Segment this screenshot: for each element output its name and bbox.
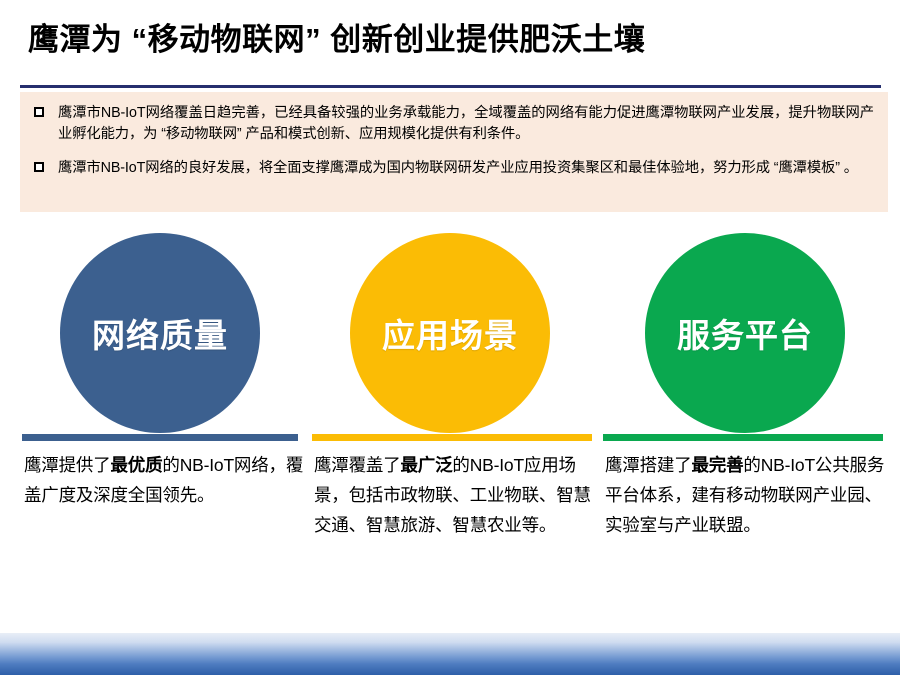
bullet-square-icon <box>34 103 58 120</box>
pillar-body-emphasis: 最优质 <box>111 455 163 475</box>
bullet-item: 鹰潭市NB-IoT网络的良好发展，将全面支撑鹰潭成为国内物联网研发产业应用投资集… <box>34 158 874 179</box>
footer-bar: CAICT 中国信通院 http://www.caict.ac.cn/ 17 <box>0 633 900 675</box>
pillar-body-prefix: 鹰潭搭建了 <box>605 455 692 475</box>
pillar-divider-blue <box>22 434 298 441</box>
pillar-body-prefix: 鹰潭覆盖了 <box>314 455 401 475</box>
pillar-divider-yellow <box>312 434 592 441</box>
pillar-body-application-scenarios: 鹰潭覆盖了最广泛的NB-IoT应用场景，包括市政物联、工业物联、智慧交通、智慧旅… <box>314 450 594 540</box>
pillar-circle-application-scenarios: 应用场景 <box>350 233 550 433</box>
bullet-panel: 鹰潭市NB-IoT网络覆盖日趋完善，已经具备较强的业务承载能力，全域覆盖的网络有… <box>20 92 888 212</box>
pillar-circle-network-quality: 网络质量 <box>60 233 260 433</box>
pillar-body-emphasis: 最广泛 <box>401 455 453 475</box>
pillar-circle-service-platform: 服务平台 <box>645 233 845 433</box>
pillar-body-emphasis: 最完善 <box>692 455 744 475</box>
pillar-body-service-platform: 鹰潭搭建了最完善的NB-IoT公共服务平台体系，建有移动物联网产业园、实验室与产… <box>605 450 885 540</box>
slide-root: 鹰潭为 “移动物联网” 创新创业提供肥沃土壤 鹰潭市NB-IoT网络覆盖日趋完善… <box>0 0 900 675</box>
pillar-divider-green <box>603 434 883 441</box>
page-title: 鹰潭为 “移动物联网” 创新创业提供肥沃土壤 <box>28 14 878 66</box>
bullet-text: 鹰潭市NB-IoT网络覆盖日趋完善，已经具备较强的业务承载能力，全域覆盖的网络有… <box>58 103 874 145</box>
bullet-text: 鹰潭市NB-IoT网络的良好发展，将全面支撑鹰潭成为国内物联网研发产业应用投资集… <box>58 158 874 179</box>
pillar-circle-label: 服务平台 <box>677 309 813 357</box>
pillar-circle-label: 网络质量 <box>92 309 228 357</box>
pillar-body-prefix: 鹰潭提供了 <box>24 455 111 475</box>
bullet-square-icon <box>34 158 58 175</box>
bullet-item: 鹰潭市NB-IoT网络覆盖日趋完善，已经具备较强的业务承载能力，全域覆盖的网络有… <box>34 103 874 145</box>
pillar-circle-label: 应用场景 <box>382 309 518 357</box>
title-divider <box>20 85 881 88</box>
pillar-body-network-quality: 鹰潭提供了最优质的NB-IoT网络，覆盖广度及深度全国领先。 <box>24 450 304 510</box>
